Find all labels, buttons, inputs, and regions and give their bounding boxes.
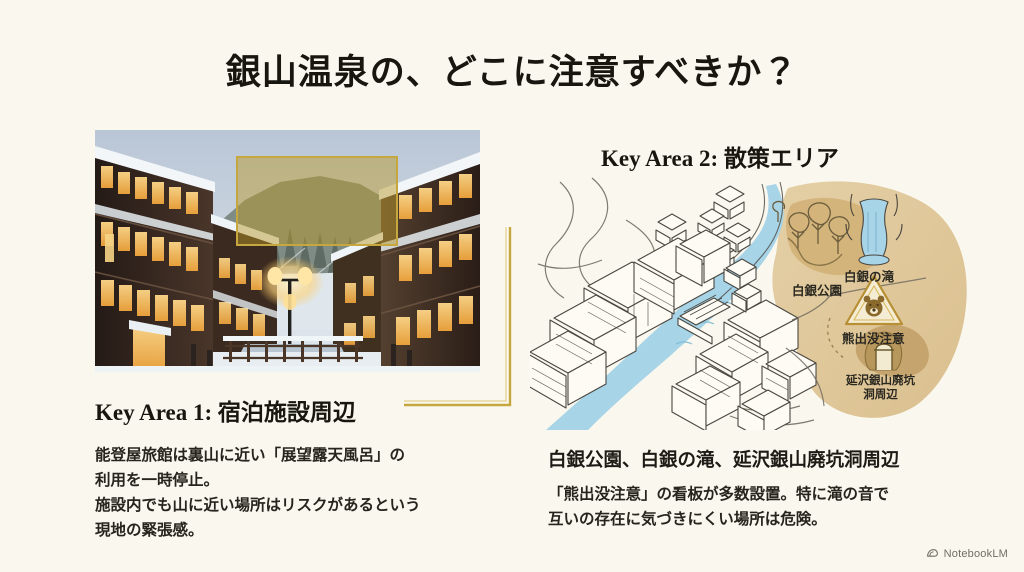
key-area-2-body-line: 「熊出没注意」の看板が多数設置。特に滝の音で (548, 482, 968, 507)
map-label-nobesawa-mine: 延沢銀山廃坑 洞周辺 (846, 374, 915, 403)
key-area-1-body: 能登屋旅館は裏山に近い「展望露天風呂」の 利用を一時停止。 施設内でも山に近い場… (95, 443, 495, 543)
ginzan-area-map: 白銀公園 白銀の滝 熊出没注意 延沢銀山廃坑 洞周辺 (530, 168, 980, 430)
key-area-2-body: 「熊出没注意」の看板が多数設置。特に滝の音で 互いの存在に気づきにくい場所は危険… (548, 482, 968, 532)
key-area-1-body-line: 能登屋旅館は裏山に近い「展望露天風呂」の (95, 443, 495, 468)
key-area-1-body-line: 利用を一時停止。 (95, 468, 495, 493)
notebooklm-icon (926, 547, 939, 560)
map-label-shirogane-falls: 白銀の滝 (844, 266, 894, 285)
slide-root: 銀山温泉の、どこに注意すべきか？ (0, 0, 1024, 572)
map-label-nobesawa-mine-line1: 延沢銀山廃坑 (846, 374, 915, 388)
notebooklm-watermark: NotebookLM (926, 547, 1008, 560)
notebooklm-label: NotebookLM (944, 548, 1008, 560)
key-area-1-body-line: 施設内でも山に近い場所はリスクがあるという (95, 493, 495, 518)
key-area-2-body-line: 互いの存在に気づきにくい場所は危険。 (548, 507, 968, 532)
key-area-1-heading: Key Area 1: 宿泊施設周辺 (95, 393, 356, 427)
page-title: 銀山温泉の、どこに注意すべきか？ (0, 44, 1024, 95)
key-area-2-lead: 白銀公園、白銀の滝、延沢銀山廃坑洞周辺 (548, 447, 968, 473)
map-label-shirogane-park: 白銀公園 (792, 280, 842, 299)
map-label-bear-warning: 熊出没注意 (842, 328, 905, 347)
map-label-nobesawa-mine-line2: 洞周辺 (846, 388, 915, 402)
key-area-1-body-line: 現地の緊張感。 (95, 518, 495, 543)
ginzan-onsen-photo (95, 130, 480, 372)
